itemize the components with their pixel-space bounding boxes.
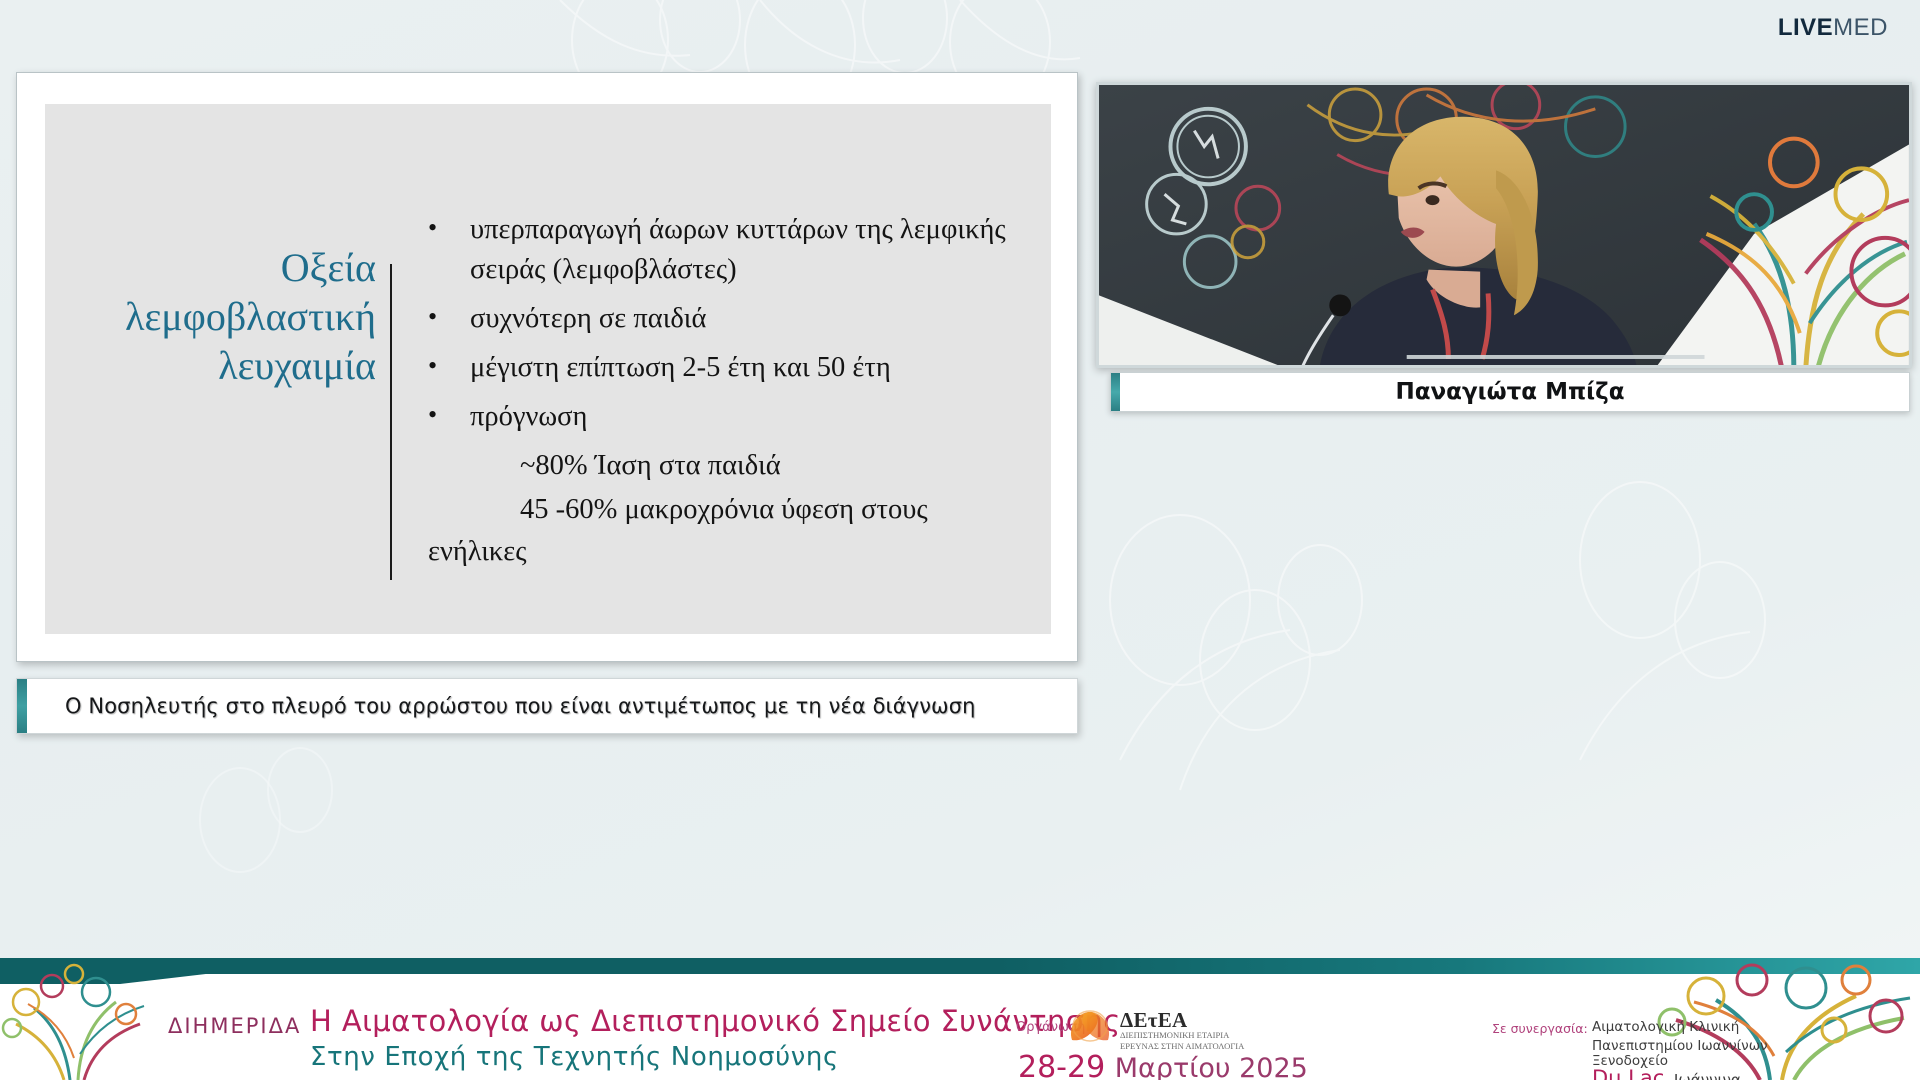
slide-bullet-list: • υπερπαραγωγή άωρων κυττάρων της λεμφικ…: [392, 104, 1051, 572]
bullet-item: • υπερπαραγωγή άωρων κυττάρων της λεμφικ…: [428, 210, 1031, 290]
cooperation-value: Αιματολογική Κλινική Πανεπιστημίου Ιωανν…: [1592, 1018, 1768, 1056]
bullet-marker-icon: •: [428, 299, 470, 335]
venue-city: , Ιωάννινα: [1664, 1071, 1741, 1080]
banner-title-line1: Η Αιματολογία ως Διεπιστημονικό Σημείο Σ…: [310, 1004, 1121, 1038]
venue-name: Du Lac: [1592, 1066, 1664, 1080]
session-title-bar: Ο Νοσηλευτής στο πλευρό του αρρώστου που…: [16, 678, 1078, 734]
bullet-text: συχνότερη σε παιδιά: [470, 299, 1031, 339]
caption-accent-stripe: [17, 679, 27, 733]
speaker-video-player[interactable]: [1096, 82, 1912, 368]
banner-title-line2: Στην Εποχή της Τεχνητής Νοημοσύνης: [310, 1042, 839, 1072]
conference-date-month-year: Μαρτίου 2025: [1115, 1053, 1308, 1080]
bullet-marker-icon: •: [428, 397, 470, 433]
slide-panel[interactable]: Οξεία λεμφοβλαστική λευχαιμία • υπερπαρα…: [16, 72, 1078, 662]
bullet-text: υπερπαραγωγή άωρων κυττάρων της λεμφικής…: [470, 210, 1031, 290]
slide-title: Οξεία λεμφοβλαστική λευχαιμία: [45, 104, 390, 390]
sub-line-prognosis-children: ~80% Ίαση στα παιδιά: [520, 446, 1031, 486]
sub-line-prognosis-adults: 45 -60% μακροχρόνια ύφεση στους: [520, 490, 1031, 530]
banner-teal-strip: [0, 958, 1920, 974]
speaker-accent-stripe: [1111, 373, 1120, 411]
livemed-logo: LIVEMED: [1778, 14, 1888, 42]
banner-kicker: ΔΙΗΜΕΡΙΔΑ: [168, 1014, 301, 1038]
organizer-subtitle: ΔΙΕΠΙΣΤΗΜΟΝΙΚΗ ΕΤΑΙΡΙΑ ΕΡΕΥΝΑΣ ΣΤΗΝ ΑΙΜΑ…: [1120, 1030, 1244, 1052]
presentation-viewer: LIVEMED Οξεία λεμφοβλαστική λευχαιμία • …: [0, 0, 1920, 1080]
detea-logo-icon: [1066, 1006, 1114, 1046]
bullet-marker-icon: •: [428, 210, 470, 246]
video-frame: [1099, 85, 1909, 368]
bullet-text: πρόγνωση: [470, 397, 1031, 437]
session-title-text: Ο Νοσηλευτής στο πλευρό του αρρώστου που…: [27, 694, 976, 718]
sub-line-adults-continuation: ενήλικες: [428, 532, 1031, 572]
conference-date: 28-29 Μαρτίου 2025: [1018, 1050, 1308, 1080]
bullet-item: • συχνότερη σε παιδιά: [428, 299, 1031, 339]
venue-row: Du Lac, Ιωάννινα: [1592, 1066, 1741, 1080]
speaker-name-plate: Παναγιώτα Μπίζα: [1110, 372, 1910, 412]
conference-date-days: 28-29: [1018, 1050, 1105, 1080]
bullet-item: • μέγιστη επίπτωση 2-5 έτη και 50 έτη: [428, 348, 1031, 388]
bullet-text: μέγιστη επίπτωση 2-5 έτη και 50 έτη: [470, 348, 1031, 388]
conference-banner: ΔΙΗΜΕΡΙΔΑ Η Αιματολογία ως Διεπιστημονικ…: [0, 958, 1920, 1080]
cooperation-label: Σε συνεργασία:: [1492, 1021, 1588, 1036]
bullet-item: • πρόγνωση: [428, 397, 1031, 437]
livemed-logo-live: LIVE: [1778, 14, 1833, 41]
bullet-marker-icon: •: [428, 348, 470, 384]
slide-content-area: Οξεία λεμφοβλαστική λευχαιμία • υπερπαρα…: [45, 104, 1051, 634]
livemed-logo-med: MED: [1833, 14, 1888, 41]
speaker-name-text: Παναγιώτα Μπίζα: [1120, 379, 1909, 405]
